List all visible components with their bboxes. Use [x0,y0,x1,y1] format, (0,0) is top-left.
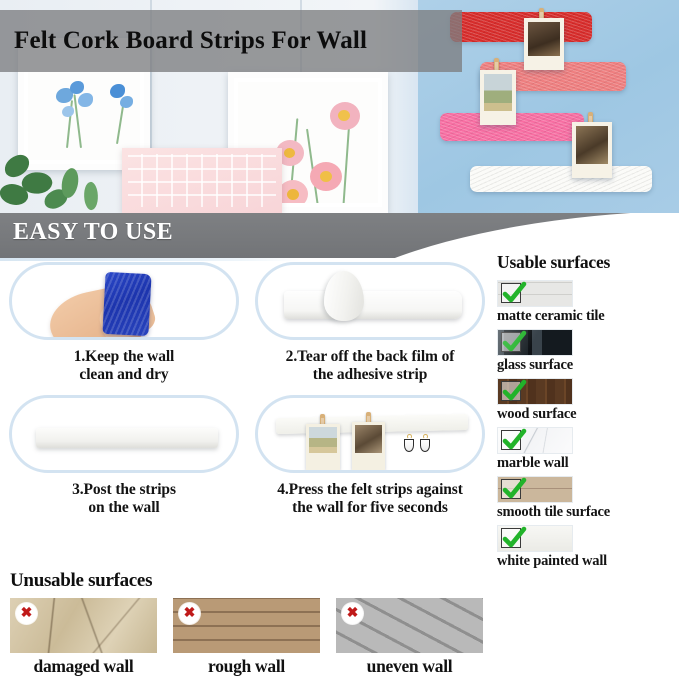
hanging-photo [572,122,612,178]
accent-divider [0,258,300,261]
blue-cloth-icon [102,272,151,336]
step-3-image [9,395,239,473]
felt-strip-illustration [36,428,218,448]
steps-section: 1.Keep the wall clean and dry 2.Tear off… [0,262,492,517]
step-1-line-2: clean and dry [5,366,243,384]
hero-image: Felt Cork Board Strips For Wall [0,0,679,213]
unusable-surfaces-section: Unusable surfaces ✖ damaged wall ✖ rough… [10,570,490,677]
earring-right [420,434,430,452]
step-2-line-1: 2.Tear off the back film of [251,348,489,366]
step-1-image [9,262,239,340]
step-3-caption: 3.Post the strips on the wall [5,481,243,518]
usable-surfaces-section: Usable surfaces matte ceramic tile glass… [497,252,679,574]
usable-item-wood-surface: wood surface [497,378,679,423]
unusable-surfaces-title: Unusable surfaces [10,570,490,592]
red-x-icon: ✖ [342,603,363,624]
green-check-icon [501,381,521,401]
step-4-image [255,395,485,473]
unusable-item-uneven-wall: ✖ uneven wall [336,598,483,677]
hanging-photo [306,424,340,470]
step-1-caption: 1.Keep the wall clean and dry [5,348,243,385]
usable-item-marble-wall: marble wall [497,427,679,472]
adhesive-strip-illustration [284,291,462,319]
unusable-item-label: rough wall [173,656,320,677]
step-3-line-1: 3.Post the strips [5,481,243,499]
step-2-image [255,262,485,340]
usable-item-label: marble wall [497,455,679,472]
unusable-items-row: ✖ damaged wall ✖ rough wall ✖ uneven wal… [10,598,490,677]
green-check-icon [501,332,521,352]
step-1-line-1: 1.Keep the wall [5,348,243,366]
infographic-page: Felt Cork Board Strips For Wall EASY TO … [0,0,679,678]
step-4-line-1: 4.Press the felt strips against [251,481,489,499]
surface-thumbnail [497,476,573,503]
red-x-icon: ✖ [179,603,200,624]
hanging-photo [480,70,516,125]
surface-thumbnail [497,280,573,307]
steps-row-bottom: 3.Post the strips on the wall [0,395,492,518]
surface-thumbnail [497,427,573,454]
usable-item-label: wood surface [497,406,679,423]
step-2-line-2: the adhesive strip [251,366,489,384]
pink-decor-box [122,148,282,213]
step-4-line-2: the wall for five seconds [251,499,489,517]
unusable-item-label: damaged wall [10,656,157,677]
hanging-photo [352,422,385,470]
hero-title-banner: Felt Cork Board Strips For Wall [0,10,462,72]
usable-item-label: matte ceramic tile [497,308,679,325]
usable-item-white-painted-wall: white painted wall [497,525,679,570]
backing-film-illustration [324,271,364,321]
surface-thumbnail [497,329,573,356]
red-x-icon: ✖ [16,603,37,624]
usable-item-glass-surface: glass surface [497,329,679,374]
section-title-easy-to-use: EASY TO USE [13,219,173,246]
step-3: 3.Post the strips on the wall [5,395,243,518]
unusable-item-label: uneven wall [336,656,483,677]
unusable-item-rough-wall: ✖ rough wall [173,598,320,677]
surface-thumbnail: ✖ [336,598,483,653]
usable-item-label: smooth tile surface [497,504,679,521]
step-2: 2.Tear off the back film of the adhesive… [251,262,489,385]
usable-item-matte-ceramic-tile: matte ceramic tile [497,280,679,325]
surface-thumbnail: ✖ [10,598,157,653]
earring-left [404,434,414,452]
green-check-icon [501,528,521,548]
usable-item-label: white painted wall [497,553,679,570]
unusable-item-damaged-wall: ✖ damaged wall [10,598,157,677]
green-check-icon [501,283,521,303]
felt-strip-white [470,166,652,192]
step-3-line-2: on the wall [5,499,243,517]
usable-item-smooth-tile-surface: smooth tile surface [497,476,679,521]
step-1: 1.Keep the wall clean and dry [5,262,243,385]
hanging-photo [524,18,564,70]
step-4: 4.Press the felt strips against the wall… [251,395,489,518]
page-title: Felt Cork Board Strips For Wall [14,27,367,55]
green-check-icon [501,479,521,499]
green-check-icon [501,430,521,450]
surface-thumbnail: ✖ [173,598,320,653]
step-4-caption: 4.Press the felt strips against the wall… [251,481,489,518]
felt-strip-red [450,12,592,42]
step-2-caption: 2.Tear off the back film of the adhesive… [251,348,489,385]
usable-surfaces-title: Usable surfaces [497,252,679,273]
surface-thumbnail [497,378,573,405]
surface-thumbnail [497,525,573,552]
steps-row-top: 1.Keep the wall clean and dry 2.Tear off… [0,262,492,385]
usable-item-label: glass surface [497,357,679,374]
